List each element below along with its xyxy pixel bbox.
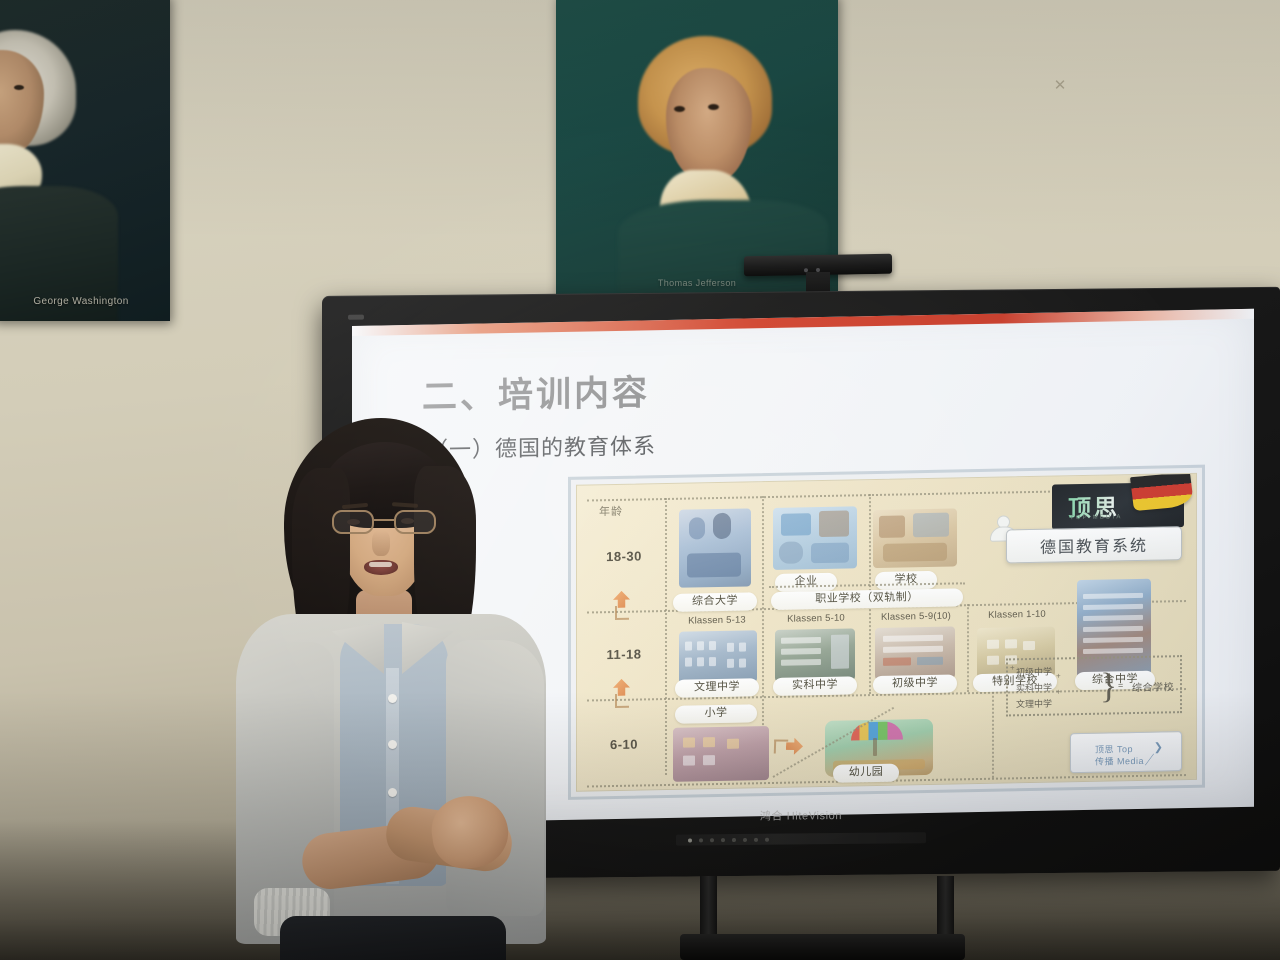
illustration-gymnasium — [679, 630, 757, 683]
cell-label-gymnasium: 文理中学 — [675, 678, 759, 698]
illustration-realschule — [775, 628, 855, 682]
diagram-title-badge: 德国教育系统 — [1006, 526, 1182, 563]
progression-arrow-icon — [773, 735, 804, 757]
illustration-hauptschule — [875, 626, 955, 680]
poster-george-washington: George Washington — [0, 0, 170, 321]
footer-logo-line2: 传播 Media — [1095, 754, 1144, 768]
grid-col-5 — [992, 692, 994, 778]
control-dot-icon[interactable] — [699, 838, 703, 842]
power-button-icon[interactable] — [688, 838, 692, 842]
poster-caption: Thomas Jefferson — [556, 278, 838, 288]
klassen-label-hauptschule: Klassen 5-9(10) — [867, 610, 965, 623]
illustration-university — [679, 508, 751, 587]
slide-accent-bar-overlay — [352, 309, 1254, 336]
presenter-nose — [372, 530, 390, 556]
age-label-secondary: 11-18 — [593, 646, 655, 662]
illustration-enterprise — [773, 506, 857, 570]
legend-result-label: 综合学校 — [1132, 678, 1174, 694]
cell-label-university: 综合大学 — [673, 592, 757, 612]
education-system-diagram: 年龄 18-30 11-18 6-10 — [568, 465, 1205, 800]
jefferson-eye-left — [674, 106, 685, 112]
age-label-tertiary: 18-30 — [593, 548, 655, 564]
shirt-button — [388, 740, 397, 749]
legend-item-realschule: 实科中学 — [1016, 680, 1052, 697]
cell-label-realschule: 实科中学 — [773, 676, 857, 696]
klassen-label-realschule: Klassen 5-10 — [769, 612, 863, 625]
display-stand-base — [680, 934, 965, 960]
illustration-primary-school — [673, 726, 769, 782]
legend-brace-icon: } — [1100, 660, 1117, 710]
germany-flag-icon — [1130, 473, 1194, 511]
legend-plus-icon: + — [1056, 671, 1061, 680]
jefferson-eye-right — [708, 104, 719, 110]
shirt-button — [388, 694, 397, 703]
progression-arrow-icon — [611, 679, 633, 709]
progression-arrow-icon — [611, 591, 633, 621]
presenter — [236, 418, 546, 960]
presenter-arm-right — [446, 640, 544, 916]
grid-col-1 — [665, 498, 667, 775]
age-label-primary: 6-10 — [593, 736, 655, 752]
control-dot-icon[interactable] — [732, 838, 736, 842]
photo-scene: ✕ George Washington Thomas Jefferson — [0, 0, 1280, 960]
display-control-panel[interactable] — [676, 832, 926, 845]
footer-logo: 顶思 Top 传播 Media ❯ ／ — [1070, 731, 1182, 773]
presenter-teeth — [369, 562, 392, 567]
bezel-indicator-icon — [348, 315, 364, 320]
display-stand-column-right — [937, 876, 954, 938]
illustration-vocational-school — [873, 508, 957, 568]
control-dot-icon[interactable] — [754, 837, 758, 841]
legend-plus-icon: + — [1056, 687, 1061, 696]
klassen-label-gymnasium: Klassen 5-13 — [671, 614, 763, 627]
cell-label-vocational-dual: 职业学校（双轨制） — [771, 588, 963, 610]
wall-scuff-mark: ✕ — [1052, 76, 1068, 96]
legend-equals-icon: = — [1118, 680, 1123, 690]
diagram-legend: 初级中学 实科中学 文理中学 + + + } = 综合学校 — [1006, 655, 1182, 716]
klassen-label-sonderschule: Klassen 1-10 — [969, 608, 1065, 621]
control-dot-icon[interactable] — [710, 838, 714, 842]
slash-icon: ／ — [1143, 751, 1156, 769]
poster-caption: George Washington — [0, 296, 170, 307]
cell-label-school: 学校 — [875, 571, 937, 590]
legend-plus-icon: + — [1010, 663, 1015, 672]
cell-label-primary-school: 小学 — [675, 704, 757, 724]
presenter-trousers — [280, 916, 506, 960]
legend-item-gymnasium: 文理中学 — [1016, 696, 1052, 713]
control-dot-icon[interactable] — [765, 837, 769, 841]
age-axis-header: 年龄 — [599, 503, 623, 519]
diagram-canvas: 年龄 18-30 11-18 6-10 — [576, 473, 1197, 792]
cell-label-hauptschule: 初级中学 — [873, 674, 957, 694]
display-stand-column-left — [700, 876, 717, 938]
slide-title: 二、培训内容 — [422, 364, 650, 419]
cell-label-enterprise: 企业 — [775, 573, 837, 592]
jefferson-face — [666, 68, 752, 182]
washington-eye-right — [14, 85, 24, 90]
dingsi-logo-sub: TOP MEDIA — [1070, 514, 1123, 521]
shirt-button — [388, 788, 397, 797]
control-dot-icon[interactable] — [721, 838, 725, 842]
legend-item-hauptschule: 初级中学 — [1016, 664, 1052, 681]
control-dot-icon[interactable] — [743, 837, 747, 841]
poster-thomas-jefferson: Thomas Jefferson — [556, 0, 838, 297]
cell-label-kindergarten: 幼儿园 — [833, 764, 899, 783]
chevron-right-icon: ❯ — [1154, 740, 1163, 753]
